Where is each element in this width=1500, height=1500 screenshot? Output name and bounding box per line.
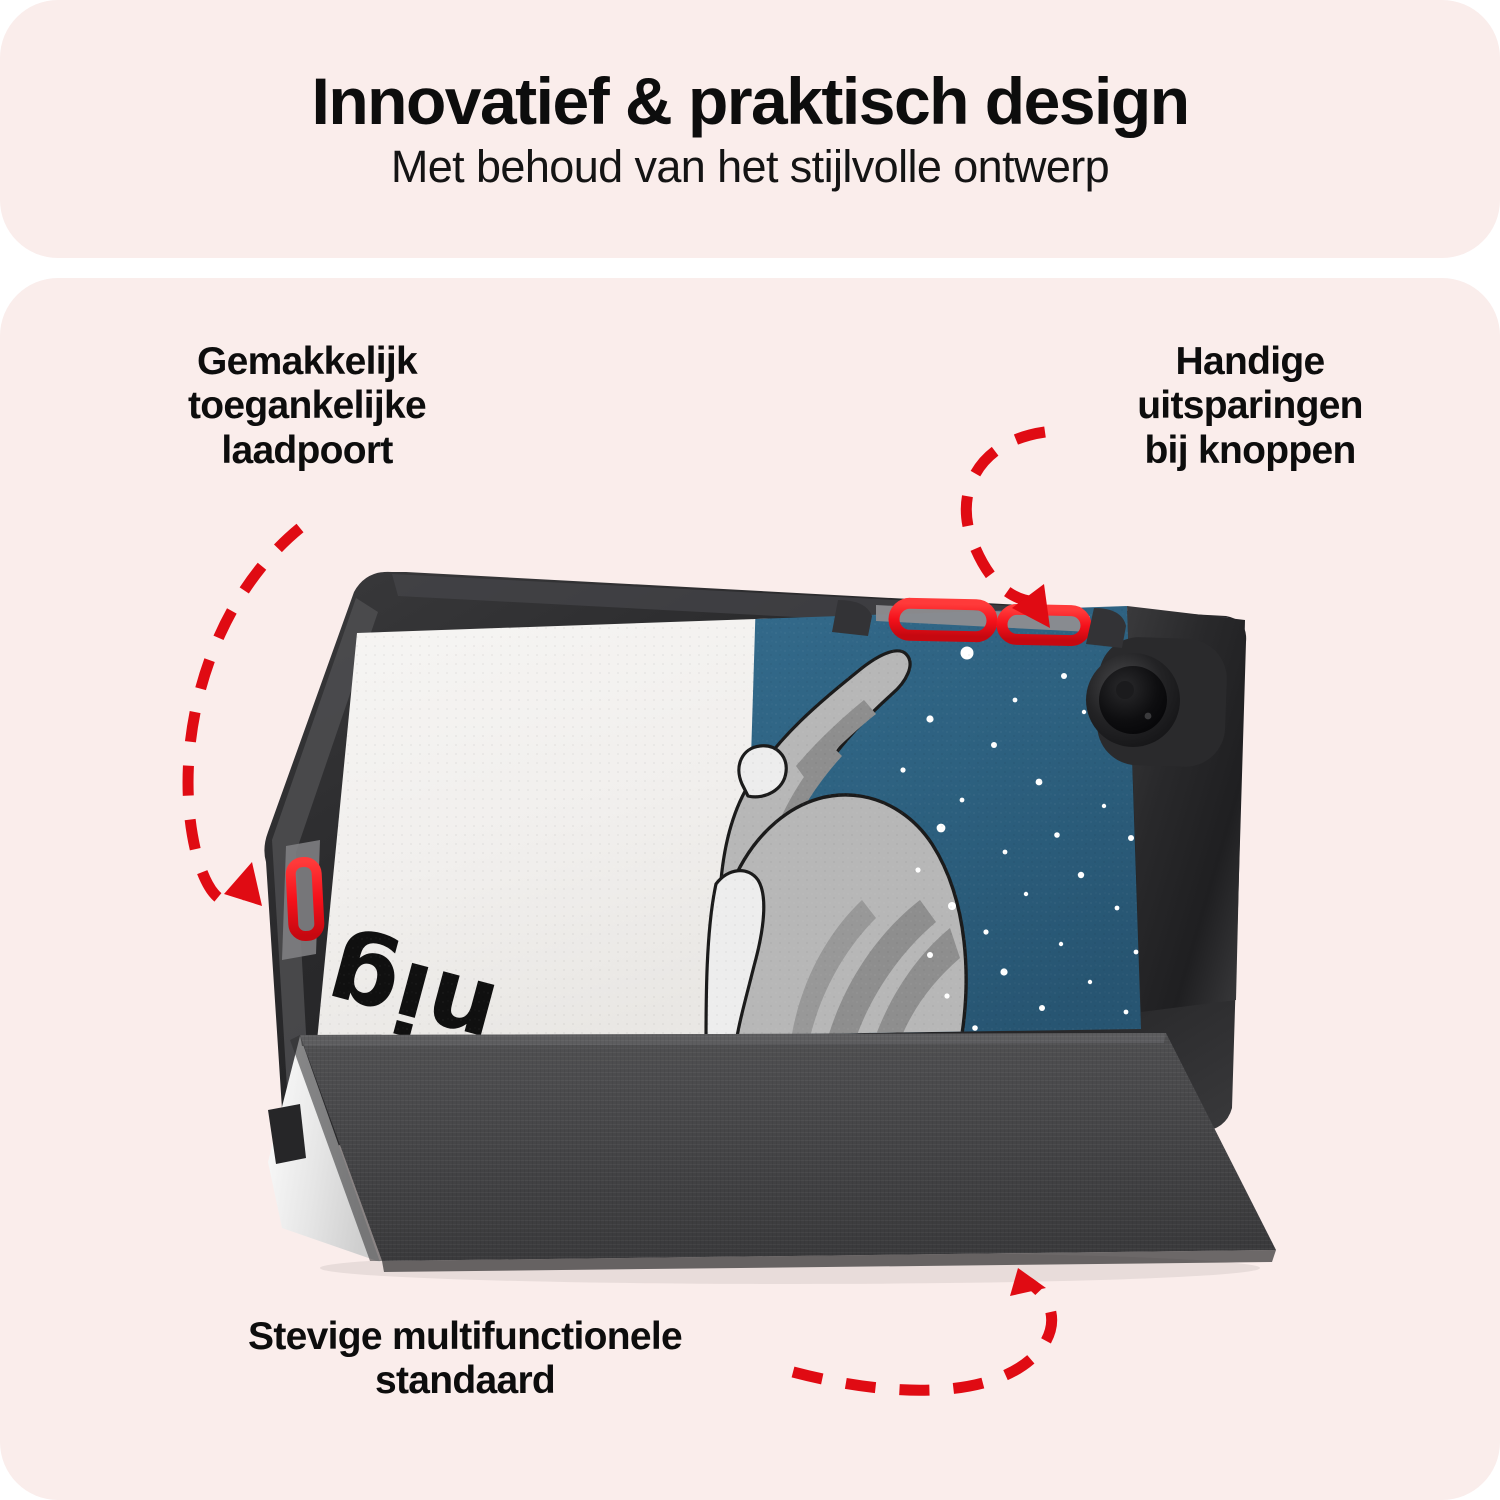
product-feature-graphic: Innovatief & praktisch design Met behoud… <box>0 0 1500 1500</box>
camera-lens-inner <box>1099 666 1167 734</box>
charging-port-cutout <box>282 840 320 960</box>
stand-texture <box>290 1028 1290 1278</box>
callout-button-cutouts: Handige uitsparingen bij knoppen <box>1040 340 1460 473</box>
callout-charging-port: Gemakkelijk toegankelijke laadpoort <box>72 340 542 473</box>
callout-stand: Stevige multifunctionele standaard <box>130 1315 800 1404</box>
cover-grain-overlay <box>300 580 1180 1060</box>
tablet-case-illustration: good nig <box>0 0 1500 1500</box>
camera-lens-element <box>1116 681 1134 699</box>
camera-lens-dot <box>1145 713 1152 720</box>
multifunctional-stand <box>268 1028 1290 1278</box>
